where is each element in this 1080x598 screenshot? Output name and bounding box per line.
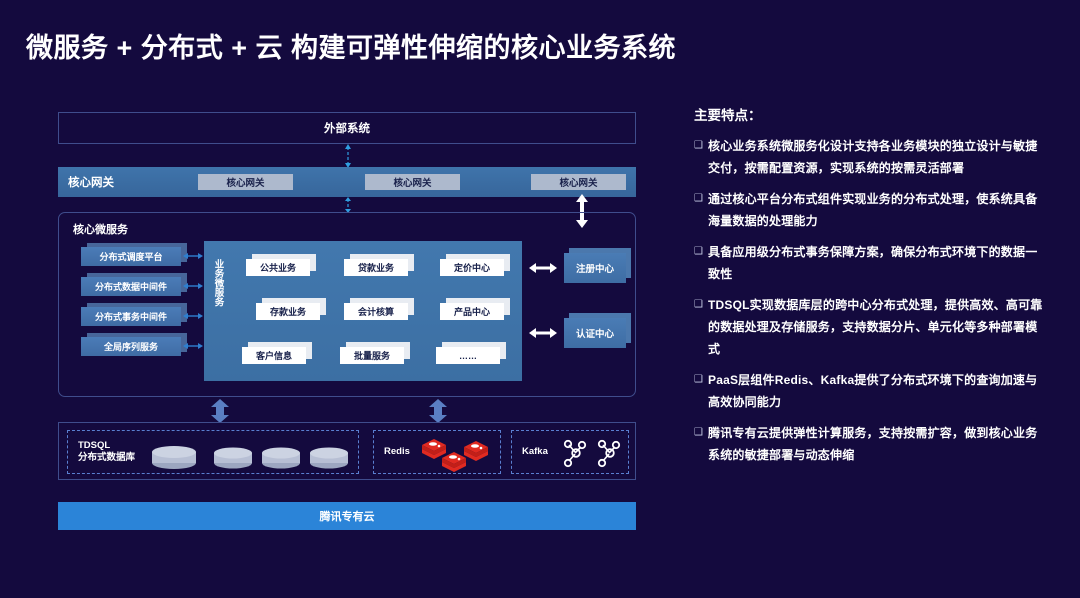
arrow-core-to-data-right bbox=[427, 399, 449, 423]
service-card: 定价中心 bbox=[440, 259, 504, 276]
service-card: 批量服务 bbox=[340, 347, 404, 364]
features-list: ❑核心业务系统微服务化设计支持各业务模块的独立设计与敏捷交付，按需配置资源，实现… bbox=[694, 135, 1046, 466]
external-system-box: 外部系统 bbox=[58, 112, 636, 144]
service-label: 定价中心 bbox=[440, 259, 504, 276]
business-microservice-vertical-label: 业务微服务 bbox=[210, 259, 226, 311]
service-label: 公共业务 bbox=[246, 259, 310, 276]
feature-text: 腾讯专有云提供弹性计算服务，支持按需扩容，做到核心业务系统的敏捷部署与动态伸缩 bbox=[708, 422, 1046, 466]
middleware-item: 分布式事务中间件 bbox=[81, 307, 181, 326]
service-card: 产品中心 bbox=[440, 303, 504, 320]
auth-center-box: 认证中心 bbox=[564, 318, 626, 348]
feature-text: 核心业务系统微服务化设计支持各业务模块的独立设计与敏捷交付，按需配置资源，实现系… bbox=[708, 135, 1046, 179]
feature-item: ❑核心业务系统微服务化设计支持各业务模块的独立设计与敏捷交付，按需配置资源，实现… bbox=[694, 135, 1046, 179]
middleware-label: 分布式调度平台 bbox=[81, 247, 181, 266]
kafka-box: Kafka bbox=[511, 430, 629, 474]
arrow-gateway-to-core bbox=[341, 197, 355, 213]
feature-item: ❑PaaS层组件Redis、Kafka提供了分布式环境下的查询加速与高效协同能力 bbox=[694, 369, 1046, 413]
architecture-diagram: 外部系统 核心网关 核心网关 核心网关 核心网关 核心 bbox=[58, 112, 636, 540]
feature-text: TDSQL实现数据库层的跨中心分布式处理，提供高效、高可靠的数据处理及存储服务，… bbox=[708, 294, 1046, 360]
bullet-square-icon: ❑ bbox=[694, 294, 708, 360]
service-card: 存款业务 bbox=[256, 303, 320, 320]
arrow-external-to-gateway bbox=[341, 144, 355, 168]
tencent-cloud-bar: 腾讯专有云 bbox=[58, 502, 636, 530]
core-microservice-panel: 核心微服务 分布式调度平台 分布式数据中间件 分布式事务中间件 全局序列服务 bbox=[58, 212, 636, 397]
service-label: …… bbox=[436, 347, 500, 364]
auth-center-label: 认证中心 bbox=[564, 318, 626, 348]
database-cylinder-icon bbox=[260, 444, 302, 470]
middleware-item: 全局序列服务 bbox=[81, 337, 181, 356]
redis-icon bbox=[418, 435, 496, 473]
vertical-label-text: 业务微服务 bbox=[212, 259, 225, 307]
service-label: 批量服务 bbox=[340, 347, 404, 364]
middleware-label: 分布式数据中间件 bbox=[81, 277, 181, 296]
feature-text: 具备应用级分布式事务保障方案，确保分布式环境下的数据一致性 bbox=[708, 241, 1046, 285]
bullet-square-icon: ❑ bbox=[694, 241, 708, 285]
tdsql-label: TDSQL 分布式数据库 bbox=[78, 440, 135, 464]
slide-root: 微服务 + 分布式 + 云 构建可弹性伸缩的核心业务系统 外部系统 核心网关 核… bbox=[0, 0, 1080, 598]
core-gateway-label: 核心网关 bbox=[68, 167, 114, 197]
bullet-square-icon: ❑ bbox=[694, 369, 708, 413]
gateway-chip: 核心网关 bbox=[531, 174, 626, 190]
redis-box: Redis bbox=[373, 430, 501, 474]
gateway-chip: 核心网关 bbox=[365, 174, 460, 190]
service-card: …… bbox=[436, 347, 500, 364]
database-cylinder-icon bbox=[150, 444, 198, 470]
kafka-icon bbox=[560, 439, 588, 469]
arrow-core-to-data-left bbox=[209, 399, 231, 423]
feature-text: 通过核心平台分布式组件实现业务的分布式处理，使系统具备海量数据的处理能力 bbox=[708, 188, 1046, 232]
bullet-square-icon: ❑ bbox=[694, 135, 708, 179]
database-cylinder-icon bbox=[212, 444, 254, 470]
service-label: 客户信息 bbox=[242, 347, 306, 364]
arrow-to-registry-center bbox=[529, 261, 557, 275]
feature-text: PaaS层组件Redis、Kafka提供了分布式环境下的查询加速与高效协同能力 bbox=[708, 369, 1046, 413]
bullet-square-icon: ❑ bbox=[694, 422, 708, 466]
data-layer-panel: TDSQL 分布式数据库 bbox=[58, 422, 636, 480]
registry-center-label: 注册中心 bbox=[564, 253, 626, 283]
arrow-middleware-connector bbox=[183, 279, 203, 293]
arrow-middleware-connector bbox=[183, 249, 203, 263]
service-label: 产品中心 bbox=[440, 303, 504, 320]
page-title: 微服务 + 分布式 + 云 构建可弹性伸缩的核心业务系统 bbox=[26, 26, 676, 65]
core-microservice-title: 核心微服务 bbox=[73, 221, 128, 237]
feature-item: ❑TDSQL实现数据库层的跨中心分布式处理，提供高效、高可靠的数据处理及存储服务… bbox=[694, 294, 1046, 360]
registry-center-box: 注册中心 bbox=[564, 253, 626, 283]
database-cylinder-icon bbox=[308, 444, 350, 470]
gateway-chip: 核心网关 bbox=[198, 174, 293, 190]
service-label: 会计核算 bbox=[344, 303, 408, 320]
tdsql-label-line2: 分布式数据库 bbox=[78, 452, 135, 464]
middleware-item: 分布式数据中间件 bbox=[81, 277, 181, 296]
feature-item: ❑腾讯专有云提供弹性计算服务，支持按需扩容，做到核心业务系统的敏捷部署与动态伸缩 bbox=[694, 422, 1046, 466]
arrow-middleware-connector bbox=[183, 309, 203, 323]
service-label: 存款业务 bbox=[256, 303, 320, 320]
kafka-label: Kafka bbox=[522, 446, 548, 458]
external-system-label: 外部系统 bbox=[324, 120, 370, 136]
arrow-middleware-connector bbox=[183, 339, 203, 353]
kafka-icon bbox=[594, 439, 622, 469]
middleware-label: 分布式事务中间件 bbox=[81, 307, 181, 326]
feature-item: ❑具备应用级分布式事务保障方案，确保分布式环境下的数据一致性 bbox=[694, 241, 1046, 285]
arrow-to-auth-center bbox=[529, 326, 557, 340]
features-panel: 主要特点： ❑核心业务系统微服务化设计支持各业务模块的独立设计与敏捷交付，按需配… bbox=[694, 104, 1046, 475]
middleware-label: 全局序列服务 bbox=[81, 337, 181, 356]
service-label: 贷款业务 bbox=[344, 259, 408, 276]
feature-item: ❑通过核心平台分布式组件实现业务的分布式处理，使系统具备海量数据的处理能力 bbox=[694, 188, 1046, 232]
core-gateway-band: 核心网关 核心网关 核心网关 核心网关 bbox=[58, 167, 636, 197]
tdsql-label-line1: TDSQL bbox=[78, 440, 135, 452]
business-microservice-panel: 业务微服务 公共业务 贷款业务 定价中心 存款业务 bbox=[204, 241, 522, 381]
features-title: 主要特点： bbox=[694, 104, 1046, 124]
bullet-square-icon: ❑ bbox=[694, 188, 708, 232]
redis-label: Redis bbox=[384, 446, 410, 458]
service-card: 贷款业务 bbox=[344, 259, 408, 276]
service-card: 公共业务 bbox=[246, 259, 310, 276]
service-card: 会计核算 bbox=[344, 303, 408, 320]
middleware-item: 分布式调度平台 bbox=[81, 247, 181, 266]
tencent-cloud-label: 腾讯专有云 bbox=[320, 508, 375, 524]
tdsql-box: TDSQL 分布式数据库 bbox=[67, 430, 359, 474]
service-card: 客户信息 bbox=[242, 347, 306, 364]
